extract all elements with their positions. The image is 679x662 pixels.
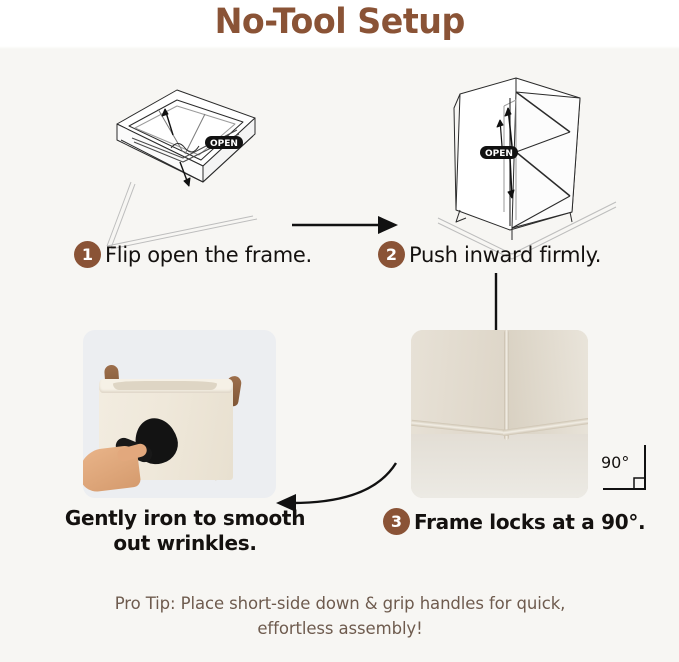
step-3-caption-text: Frame locks at a 90°. [414, 510, 645, 534]
svg-text:OPEN: OPEN [210, 139, 238, 149]
step-2-illustration: OPEN [420, 70, 620, 265]
step-1-caption: 1 Flip open the frame. [74, 241, 312, 268]
step-3-corner-photo [411, 330, 588, 498]
open-tag-step-1: OPEN [205, 136, 243, 149]
corner-seam-vertical [504, 330, 509, 440]
iron-caption-line-2: out wrinkles. [60, 531, 310, 556]
pro-tip-line-1: Pro Tip: Place short-side down & grip ha… [50, 592, 630, 617]
step-1-badge: 1 [74, 241, 101, 268]
step-3-badge: 3 [383, 508, 410, 535]
step-3-caption: 3 Frame locks at a 90°. [383, 508, 645, 535]
step-1-illustration: OPEN [85, 76, 295, 261]
step-2-caption: 2 Push inward firmly. [378, 241, 601, 268]
basket-floor [411, 434, 588, 498]
page-title: No-Tool Setup [214, 5, 464, 40]
step-1-caption-text: Flip open the frame. [105, 243, 312, 267]
line-step2-to-step3 [492, 273, 500, 331]
iron-step-photo [83, 330, 276, 498]
arrow-step3-to-iron [272, 451, 404, 511]
header-band: No-Tool Setup [0, 0, 679, 46]
iron-caption-line-1: Gently iron to smooth [60, 506, 310, 531]
pro-tip-line-2: effortless assembly! [50, 617, 630, 642]
arrow-step1-to-step2 [290, 212, 400, 238]
open-tag-step-2: OPEN [480, 146, 518, 159]
pro-tip: Pro Tip: Place short-side down & grip ha… [50, 592, 630, 642]
angle-indicator: 90° [601, 443, 657, 495]
instruction-stage: OPEN 1 Flip open the frame. [0, 46, 679, 662]
svg-text:OPEN: OPEN [485, 149, 513, 159]
basket-interior [113, 381, 217, 390]
iron-step-caption: Gently iron to smooth out wrinkles. [60, 506, 310, 556]
step-2-badge: 2 [378, 241, 405, 268]
step-2-caption-text: Push inward firmly. [409, 243, 601, 267]
angle-label: 90° [601, 453, 629, 472]
